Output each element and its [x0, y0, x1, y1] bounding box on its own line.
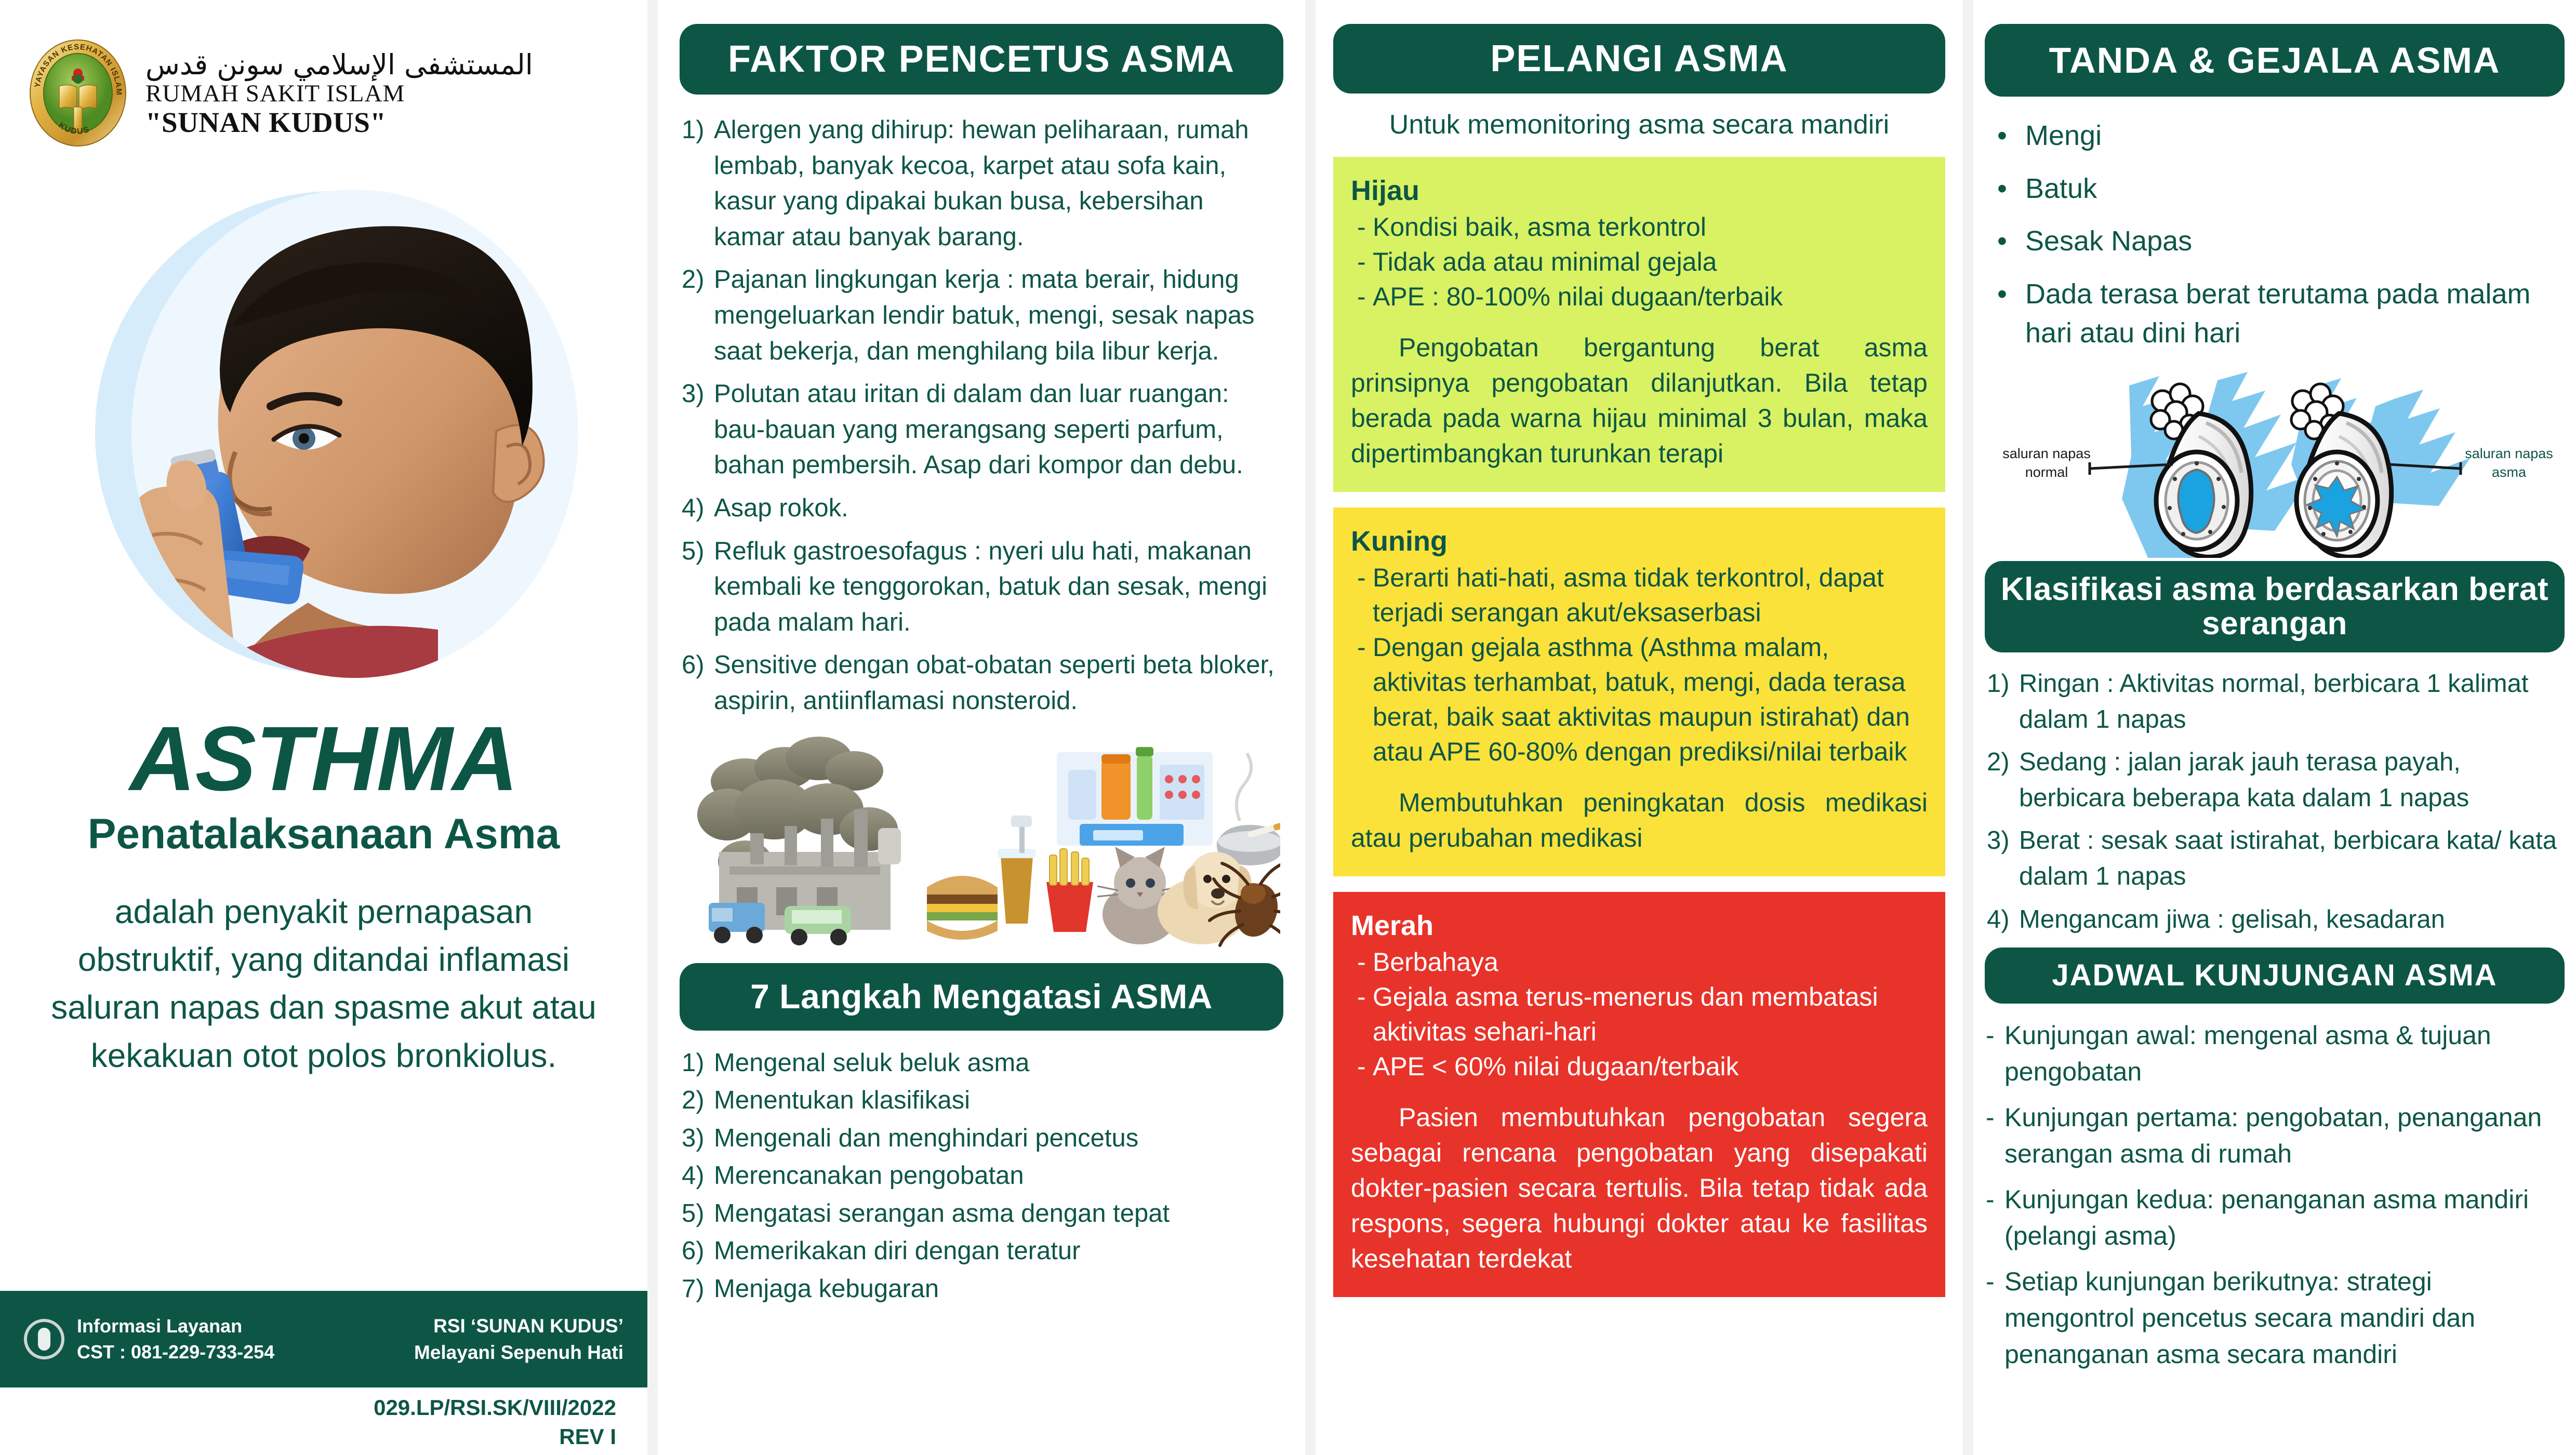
- dash-marker: -: [1986, 1099, 2004, 1172]
- zone-green-line: - APE : 80-100% nilai dugaan/terbaik: [1351, 279, 1928, 314]
- footer-info-label: Informasi Layanan: [77, 1313, 274, 1339]
- symptoms-header-label: TANDA & GEJALA ASMA: [2049, 41, 2501, 79]
- phone-icon: [24, 1319, 64, 1359]
- ashtray-cigarette-icon: [1217, 753, 1280, 865]
- airway-label-asthma: saluran napas asma: [2449, 445, 2569, 482]
- list-item-number: 2): [1987, 744, 2019, 816]
- dash-marker: -: [1357, 630, 1373, 769]
- zone-yellow-line: - Berarti hati-hati, asma tidak terkontr…: [1351, 560, 1928, 630]
- rainbow-note: Untuk memonitoring asma secara mandiri: [1316, 109, 1963, 140]
- dash-marker: -: [1357, 1049, 1373, 1084]
- triggers-header: FAKTOR PENCETUS ASMA: [680, 24, 1283, 95]
- list-item-number: 6): [682, 1233, 714, 1269]
- classification-list: 1) Ringan : Aktivitas normal, berbicara …: [1973, 666, 2576, 937]
- panel-rainbow: PELANGI ASMA Untuk memonitoring asma sec…: [1316, 0, 1963, 1455]
- list-item-number: 3): [682, 376, 714, 483]
- list-item: 5) Mengatasi serangan asma dengan tepat: [682, 1196, 1277, 1232]
- zone-red: Merah - Berbahaya - Gejala asma terus-me…: [1333, 892, 1945, 1297]
- list-item: 6) Memerikakan diri dengan teratur: [682, 1233, 1277, 1269]
- zone-green-line: - Kondisi baik, asma terkontrol: [1351, 210, 1928, 245]
- zone-line-text: Kondisi baik, asma terkontrol: [1373, 210, 1706, 245]
- list-item-text: Ringan : Aktivitas normal, berbicara 1 k…: [2019, 666, 2566, 737]
- zone-red-line: - Berbahaya: [1351, 945, 1928, 980]
- brand-line-2: "SUNAN KUDUS": [145, 107, 533, 139]
- schedule-list: - Kunjungan awal: mengenal asma & tujuan…: [1973, 1017, 2576, 1372]
- list-item: 7) Menjaga kebugaran: [682, 1271, 1277, 1307]
- list-item-text: Mengenal seluk beluk asma: [714, 1045, 1277, 1081]
- bullet-icon: •: [1997, 275, 2025, 353]
- zone-yellow-line: - Dengan gejala asthma (Asthma malam, ak…: [1351, 630, 1928, 769]
- dash-marker: -: [1357, 980, 1373, 1049]
- zone-yellow-paragraph: Membutuhkan peningkatan dosis medikasi a…: [1351, 785, 1928, 856]
- list-item: 2) Pajanan lingkungan kerja : mata berai…: [682, 262, 1277, 369]
- list-item-number: 1): [682, 112, 714, 255]
- list-item-number: 3): [682, 1120, 714, 1156]
- list-item: 4) Asap rokok.: [682, 490, 1277, 526]
- list-item-number: 4): [682, 1158, 714, 1194]
- dash-marker: -: [1357, 945, 1373, 980]
- list-item-text: Refluk gastroesofagus : nyeri ulu hati, …: [714, 533, 1277, 640]
- list-item-text: Sedang : jalan jarak jauh terasa payah, …: [2019, 744, 2566, 816]
- list-item-text: Sensitive dengan obat-obatan seperti bet…: [714, 647, 1277, 718]
- brand-arabic-text: المستشفى الإسلامي سونن قدس: [145, 51, 533, 79]
- list-item: - Kunjungan awal: mengenal asma & tujuan…: [1986, 1017, 2565, 1090]
- list-item-number: 7): [682, 1271, 714, 1307]
- list-item-text: Setiap kunjungan berikutnya: strategi me…: [2004, 1263, 2565, 1372]
- intro-paragraph: adalah penyakit pernapasan obstruktif, y…: [0, 857, 647, 1079]
- dash-marker: -: [1357, 245, 1373, 279]
- panel-symptoms: TANDA & GEJALA ASMA • Mengi • Batuk • Se…: [1973, 0, 2576, 1455]
- classification-header: Klasifikasi asma berdasarkan berat seran…: [1985, 561, 2565, 652]
- panel-divider-3: [1963, 0, 1973, 1455]
- zone-yellow: Kuning - Berarti hati-hati, asma tidak t…: [1333, 508, 1945, 876]
- rainbow-header-label: PELANGI ASMA: [1490, 39, 1788, 78]
- steps-list: 1) Mengenal seluk beluk asma 2) Menentuk…: [658, 1045, 1305, 1307]
- bullet-icon: •: [1997, 169, 2025, 209]
- dash-marker: -: [1357, 210, 1373, 245]
- zone-green-paragraph: Pengobatan bergantung berat asma prinsip…: [1351, 330, 1928, 471]
- list-item: 1) Mengenal seluk beluk asma: [682, 1045, 1277, 1081]
- schedule-header: JADWAL KUNJUNGAN ASMA: [1985, 947, 2565, 1004]
- van-icon: [709, 903, 765, 943]
- list-item: 2) Menentukan klasifikasi: [682, 1083, 1277, 1118]
- zone-yellow-title: Kuning: [1351, 525, 1928, 557]
- zone-red-line: - APE < 60% nilai dugaan/terbaik: [1351, 1049, 1928, 1084]
- zone-line-text: Gejala asma terus-menerus dan membatasi …: [1373, 980, 1928, 1049]
- triggers-list: 1) Alergen yang dihirup: hewan peliharaa…: [658, 112, 1305, 719]
- list-item: 3) Polutan atau iritan di dalam dan luar…: [682, 376, 1277, 483]
- list-item-text: Mengancam jiwa : gelisah, kesadaran: [2019, 902, 2566, 938]
- list-item-number: 1): [682, 1045, 714, 1081]
- list-item-text: Kunjungan awal: mengenal asma & tujuan p…: [2004, 1017, 2565, 1090]
- list-item-text: Dada terasa berat terutama pada malam ha…: [2025, 275, 2552, 353]
- list-item: • Mengi: [1997, 116, 2552, 156]
- list-item-text: Kunjungan pertama: pengobatan, penangana…: [2004, 1099, 2565, 1172]
- brochure-page: YAYASAN KESEHATAN ISLAM KUDUS المستشفى ا…: [0, 0, 2576, 1455]
- list-item-text: Mengi: [2025, 116, 2102, 156]
- list-item: - Kunjungan pertama: pengobatan, penanga…: [1986, 1099, 2565, 1172]
- zone-line-text: Tidak ada atau minimal gejala: [1373, 245, 1717, 279]
- dash-marker: -: [1986, 1263, 2004, 1372]
- zone-red-line: - Gejala asma terus-menerus dan membatas…: [1351, 980, 1928, 1049]
- list-item: 4) Mengancam jiwa : gelisah, kesadaran: [1987, 902, 2566, 938]
- list-item-number: 5): [682, 1196, 714, 1232]
- list-item: 3) Mengenali dan menghindari pencetus: [682, 1120, 1277, 1156]
- zone-red-paragraph: Pasien membutuhkan pengobatan segera seb…: [1351, 1100, 1928, 1276]
- triggers-header-label: FAKTOR PENCETUS ASMA: [728, 39, 1235, 79]
- list-item-number: 1): [1987, 666, 2019, 737]
- list-item-text: Pajanan lingkungan kerja : mata berair, …: [714, 262, 1277, 369]
- list-item-number: 2): [682, 1083, 714, 1118]
- list-item-number: 2): [682, 262, 714, 369]
- inhaler-boy-photo: [64, 171, 583, 719]
- list-item: 1) Alergen yang dihirup: hewan peliharaa…: [682, 112, 1277, 255]
- list-item-text: Mengenali dan menghindari pencetus: [714, 1120, 1277, 1156]
- symptoms-list: • Mengi • Batuk • Sesak Napas • Dada ter…: [1973, 116, 2576, 353]
- list-item: 2) Sedang : jalan jarak jauh terasa paya…: [1987, 744, 2566, 816]
- list-item-number: 4): [682, 490, 714, 526]
- classification-header-label: Klasifikasi asma berdasarkan berat seran…: [1998, 572, 2551, 640]
- schedule-header-label: JADWAL KUNJUNGAN ASMA: [2052, 959, 2497, 991]
- document-number: 029.LP/RSI.SK/VIII/2022: [374, 1393, 616, 1422]
- list-item-text: Menentukan klasifikasi: [714, 1083, 1277, 1118]
- panel-cover: YAYASAN KESEHATAN ISLAM KUDUS المستشفى ا…: [0, 0, 647, 1455]
- list-item-number: 6): [682, 647, 714, 718]
- zone-green: Hijau - Kondisi baik, asma terkontrol - …: [1333, 157, 1945, 492]
- list-item-number: 3): [1987, 823, 2019, 894]
- zone-line-text: Berarti hati-hati, asma tidak terkontrol…: [1373, 560, 1928, 630]
- list-item-text: Sesak Napas: [2025, 222, 2192, 261]
- list-item: 6) Sensitive dengan obat-obatan seperti …: [682, 647, 1277, 718]
- list-item: • Dada terasa berat terutama pada malam …: [1997, 275, 2552, 353]
- dash-marker: -: [1357, 279, 1373, 314]
- bullet-icon: •: [1997, 116, 2025, 156]
- zone-line-text: Dengan gejala asthma (Asthma malam, akti…: [1373, 630, 1928, 769]
- list-item-text: Polutan atau iritan di dalam dan luar ru…: [714, 376, 1277, 483]
- trigger-collage-illustration: [683, 731, 1280, 955]
- zone-line-text: Berbahaya: [1373, 945, 1498, 980]
- steps-header: 7 Langkah Mengatasi ASMA: [680, 963, 1283, 1031]
- airway-label-normal: saluran napas normal: [1987, 445, 2106, 482]
- zone-line-text: APE < 60% nilai dugaan/terbaik: [1373, 1049, 1739, 1084]
- page-title: ASTHMA: [0, 713, 647, 805]
- zone-line-text: APE : 80-100% nilai dugaan/terbaik: [1373, 279, 1783, 314]
- dash-marker: -: [1986, 1181, 2004, 1254]
- list-item-text: Kunjungan kedua: penanganan asma mandiri…: [2004, 1181, 2565, 1254]
- contact-footer-bar: Informasi Layanan CST : 081-229-733-254 …: [0, 1291, 647, 1387]
- list-item: 1) Ringan : Aktivitas normal, berbicara …: [1987, 666, 2566, 737]
- symptoms-header: TANDA & GEJALA ASMA: [1985, 24, 2565, 97]
- footer-cst-number: CST : 081-229-733-254: [77, 1339, 274, 1365]
- list-item-text: Menjaga kebugaran: [714, 1271, 1277, 1307]
- document-number-block: 029.LP/RSI.SK/VIII/2022 REV I: [374, 1393, 616, 1451]
- list-item: • Batuk: [1997, 169, 2552, 209]
- hospital-logo-icon: YAYASAN KESEHATAN ISLAM KUDUS: [28, 38, 128, 148]
- list-item-text: Berat : sesak saat istirahat, berbicara …: [2019, 823, 2566, 894]
- list-item-number: 4): [1987, 902, 2019, 938]
- list-item-text: Merencanakan pengobatan: [714, 1158, 1277, 1194]
- zone-red-title: Merah: [1351, 910, 1928, 942]
- page-subtitle: Penatalaksanaan Asma: [0, 812, 647, 857]
- list-item-text: Mengatasi serangan asma dengan tepat: [714, 1196, 1277, 1232]
- dash-marker: -: [1986, 1017, 2004, 1090]
- hospital-brand: YAYASAN KESEHATAN ISLAM KUDUS المستشفى ا…: [0, 0, 647, 148]
- rainbow-header: PELANGI ASMA: [1333, 24, 1945, 94]
- list-item: • Sesak Napas: [1997, 222, 2552, 261]
- steps-header-label: 7 Langkah Mengatasi ASMA: [750, 979, 1213, 1015]
- brand-line-1: RUMAH SAKIT ISLAM: [145, 81, 533, 107]
- panel-triggers: FAKTOR PENCETUS ASMA 1) Alergen yang dih…: [658, 0, 1305, 1455]
- list-item-text: Alergen yang dihirup: hewan peliharaan, …: [714, 112, 1277, 255]
- list-item: 4) Merencanakan pengobatan: [682, 1158, 1277, 1194]
- zone-green-line: - Tidak ada atau minimal gejala: [1351, 245, 1928, 279]
- dash-marker: -: [1357, 560, 1373, 630]
- airway-comparison-diagram: saluran napas normal saluran napas asma: [1973, 367, 2576, 558]
- footer-hospital-name: RSI ‘SUNAN KUDUS’: [414, 1313, 623, 1339]
- footer-tagline: Melayani Sepenuh Hati: [414, 1339, 623, 1366]
- list-item-number: 5): [682, 533, 714, 640]
- list-item-text: Asap rokok.: [714, 490, 1277, 526]
- document-revision: REV I: [374, 1422, 616, 1451]
- list-item: 5) Refluk gastroesofagus : nyeri ulu hat…: [682, 533, 1277, 640]
- bullet-icon: •: [1997, 222, 2025, 261]
- panel-divider-1: [647, 0, 658, 1455]
- list-item-text: Batuk: [2025, 169, 2097, 209]
- list-item: 3) Berat : sesak saat istirahat, berbica…: [1987, 823, 2566, 894]
- list-item: - Kunjungan kedua: penanganan asma mandi…: [1986, 1181, 2565, 1254]
- list-item-text: Memerikakan diri dengan teratur: [714, 1233, 1277, 1269]
- medicine-bottles-icon: [1057, 747, 1213, 846]
- zone-green-title: Hijau: [1351, 175, 1928, 207]
- panel-divider-2: [1305, 0, 1316, 1455]
- list-item: - Setiap kunjungan berikutnya: strategi …: [1986, 1263, 2565, 1372]
- car-icon: [785, 906, 851, 945]
